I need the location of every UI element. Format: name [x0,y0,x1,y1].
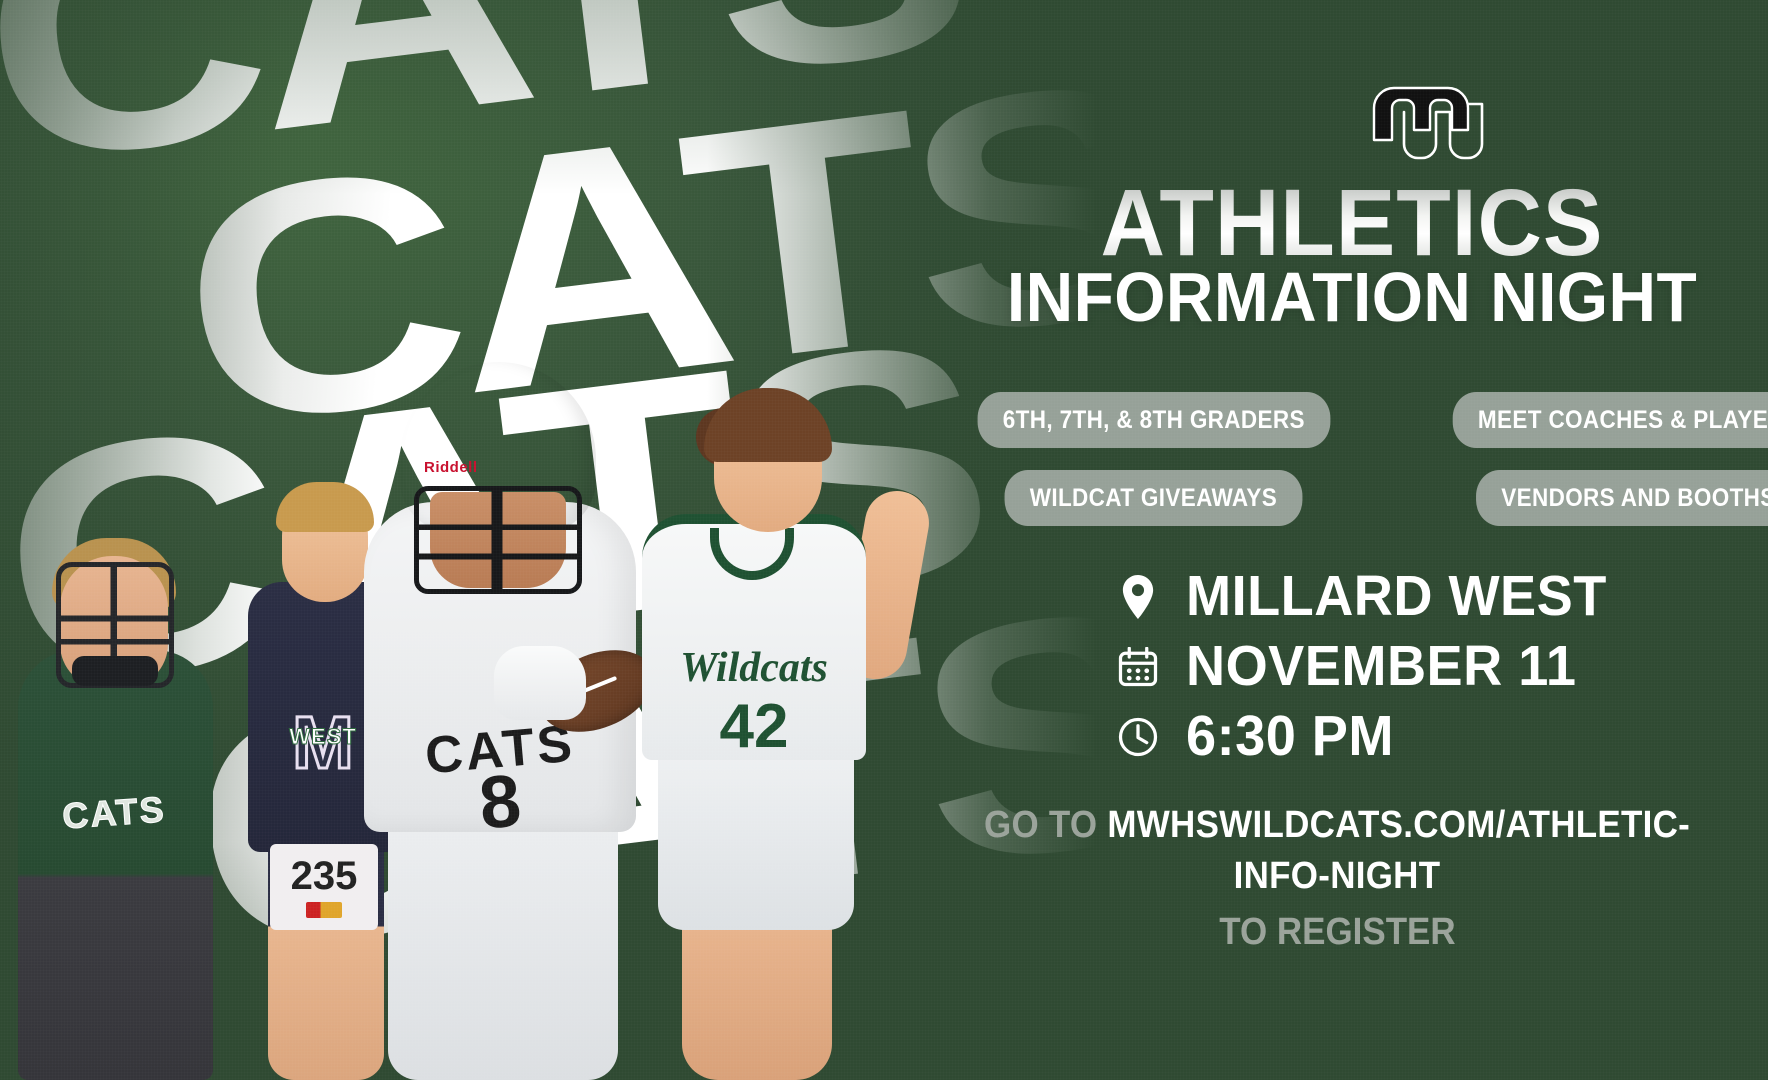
event-details: MILLARD WEST NOVEMBER 11 [1116,565,1629,768]
track-bib-logo-icon [306,902,342,918]
feature-pill-meet-coaches[interactable]: MEET COACHES & PLAYERS [1452,392,1768,448]
athlete-collage: CATS M WEST 235 CATS 8 Rid [0,0,1000,1080]
clock-icon [1116,711,1160,763]
softball-chin-guard [72,656,158,686]
event-time-text: 6:30 PM [1186,705,1394,769]
location-pin-icon [1116,571,1160,623]
poster-canvas: CATS CATS CATS CATS CATS M WEST 235 [0,0,1768,1080]
football-pants [388,812,618,1080]
registration-suffix: TO REGISTER [1219,907,1455,958]
info-column: ATHLETICS INFORMATION NIGHT 6TH, 7TH, & … [936,0,1768,1080]
event-detail-date: NOVEMBER 11 [1116,635,1629,699]
basketball-shorts [658,740,854,930]
basketball-jersey-number: 42 [652,691,856,762]
feature-pill-grades[interactable]: 6TH, 7TH, & 8TH GRADERS [978,392,1330,448]
title-block: ATHLETICS INFORMATION NIGHT [936,178,1768,334]
football-helmet-brand: Riddell [424,459,478,476]
mw-logo-icon [1364,62,1496,174]
softball-jersey [18,650,213,1080]
feature-pill-giveaways[interactable]: WILDCAT GIVEAWAYS [1005,470,1303,526]
football-facemask-icon [414,486,582,594]
calendar-icon [1116,641,1160,693]
event-date-text: NOVEMBER 11 [1186,635,1576,699]
athlete-football-player: CATS 8 Riddell [352,320,652,1080]
registration-prefix: GO TO [984,804,1107,846]
feature-pill-vendors[interactable]: VENDORS AND BOOTHS [1476,470,1768,526]
page-title: ATHLETICS [961,178,1743,268]
athlete-softball-player: CATS [8,440,223,1080]
event-location-text: MILLARD WEST [1186,565,1607,629]
basketball-hair [704,388,832,462]
registration-callout: GO TO MWHSWILDCATS.COM/ATHLETIC-INFO-NIG… [936,800,1738,958]
event-detail-location: MILLARD WEST [1116,565,1629,629]
registration-url[interactable]: MWHSWILDCATS.COM/ATHLETIC-INFO-NIGHT [1107,804,1690,897]
track-bib-value: 235 [291,854,358,898]
football-glove [494,646,586,720]
feature-pill-group: 6TH, 7TH, & 8TH GRADERS MEET COACHES & P… [958,392,1734,526]
basketball-jersey-text: Wildcats [652,644,856,692]
basketball-legs [682,908,832,1080]
athlete-basketball-player: Wildcats 42 [618,340,918,1080]
event-detail-time: 6:30 PM [1116,705,1629,769]
registration-url-line[interactable]: GO TO MWHSWILDCATS.COM/ATHLETIC-INFO-NIG… [968,800,1706,903]
page-subtitle: INFORMATION NIGHT [961,262,1743,333]
